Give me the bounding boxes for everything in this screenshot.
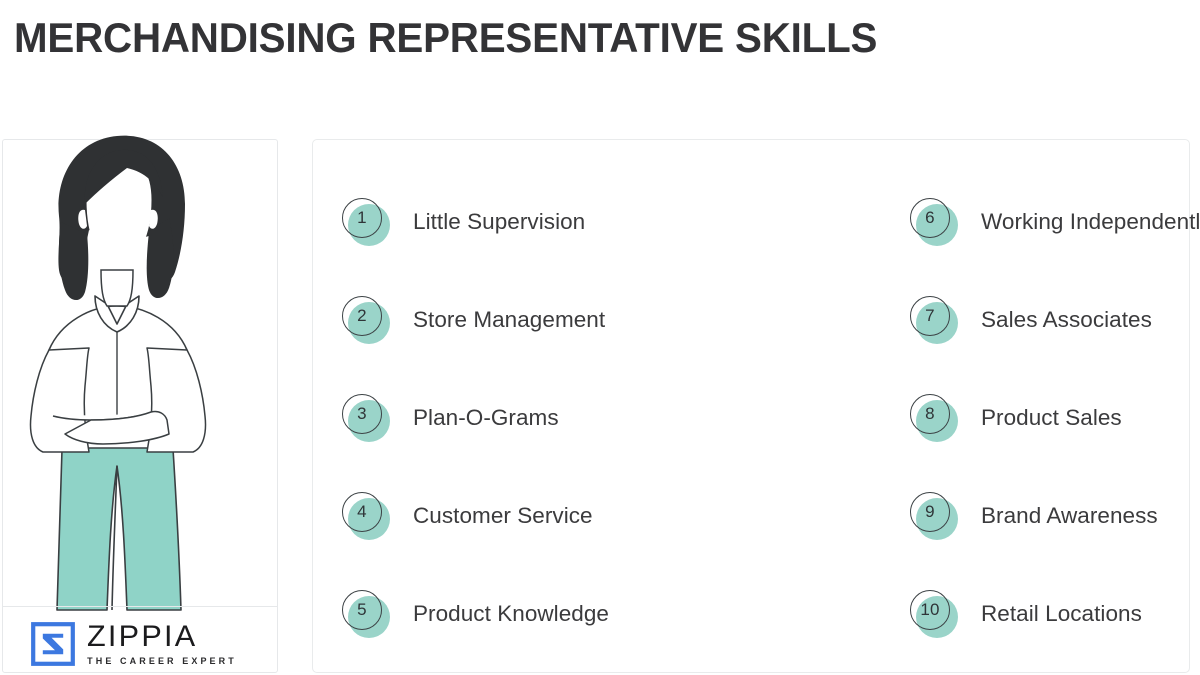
skill-label: Product Sales	[981, 404, 1122, 432]
skill-item[interactable]: 8 Product Sales	[908, 369, 1191, 467]
skill-number: 9	[910, 492, 950, 532]
skill-number-badge: 9	[908, 490, 960, 542]
skill-label: Brand Awareness	[981, 502, 1158, 530]
skill-number: 4	[342, 492, 382, 532]
skill-number: 1	[342, 198, 382, 238]
skill-item[interactable]: 7 Sales Associates	[908, 271, 1191, 369]
skill-number: 5	[342, 590, 382, 630]
skill-item[interactable]: 2 Store Management	[340, 271, 766, 369]
z-glyph	[42, 633, 64, 655]
skill-number: 10	[910, 590, 950, 630]
neck	[101, 270, 133, 306]
skill-number-badge: 5	[340, 588, 392, 640]
skill-item[interactable]: 10 Retail Locations	[908, 565, 1191, 663]
zippia-z-mark-icon	[31, 622, 75, 666]
skills-column-left: 1 Little Supervision 2 Store Management …	[313, 140, 766, 672]
skill-label: Working Independently	[981, 208, 1200, 236]
skill-label: Retail Locations	[981, 600, 1142, 628]
skill-number-badge: 10	[908, 588, 960, 640]
skill-label: Plan-O-Grams	[413, 404, 559, 432]
zippia-logo[interactable]: ZIPPIA THE CAREER EXPERT	[31, 622, 237, 667]
skill-label: Little Supervision	[413, 208, 585, 236]
skill-number: 2	[342, 296, 382, 336]
skill-item[interactable]: 6 Working Independently	[908, 173, 1191, 271]
skill-label: Customer Service	[413, 502, 593, 530]
skill-number-badge: 4	[340, 490, 392, 542]
skill-number-badge: 2	[340, 294, 392, 346]
skill-number: 6	[910, 198, 950, 238]
logo-footer: ZIPPIA THE CAREER EXPERT	[3, 607, 277, 673]
skill-number: 3	[342, 394, 382, 434]
skill-item[interactable]: 5 Product Knowledge	[340, 565, 766, 663]
skills-card: 1 Little Supervision 2 Store Management …	[312, 139, 1190, 673]
skill-label: Product Knowledge	[413, 600, 609, 628]
skill-item[interactable]: 4 Customer Service	[340, 467, 766, 565]
skills-column-right: 6 Working Independently 7 Sales Associat…	[766, 140, 1191, 672]
skill-number: 8	[910, 394, 950, 434]
illustration-area	[3, 140, 277, 606]
skill-item[interactable]: 3 Plan-O-Grams	[340, 369, 766, 467]
skills-grid: 1 Little Supervision 2 Store Management …	[313, 140, 1189, 672]
page-title: MERCHANDISING REPRESENTATIVE SKILLS	[14, 14, 877, 62]
skill-number: 7	[910, 296, 950, 336]
skill-item[interactable]: 9 Brand Awareness	[908, 467, 1191, 565]
skill-number-badge: 1	[340, 196, 392, 248]
skill-label: Sales Associates	[981, 306, 1152, 334]
zippia-logo-text: ZIPPIA THE CAREER EXPERT	[87, 622, 237, 667]
zippia-tagline: THE CAREER EXPERT	[87, 655, 237, 667]
illustration-panel: ZIPPIA THE CAREER EXPERT	[2, 139, 278, 673]
skill-item[interactable]: 1 Little Supervision	[340, 173, 766, 271]
skill-number-badge: 6	[908, 196, 960, 248]
skill-number-badge: 8	[908, 392, 960, 444]
skill-number-badge: 3	[340, 392, 392, 444]
zippia-wordmark: ZIPPIA	[87, 622, 197, 652]
skill-number-badge: 7	[908, 294, 960, 346]
hair-left-strand	[59, 222, 88, 300]
person-illustration	[0, 118, 289, 610]
skill-label: Store Management	[413, 306, 605, 334]
